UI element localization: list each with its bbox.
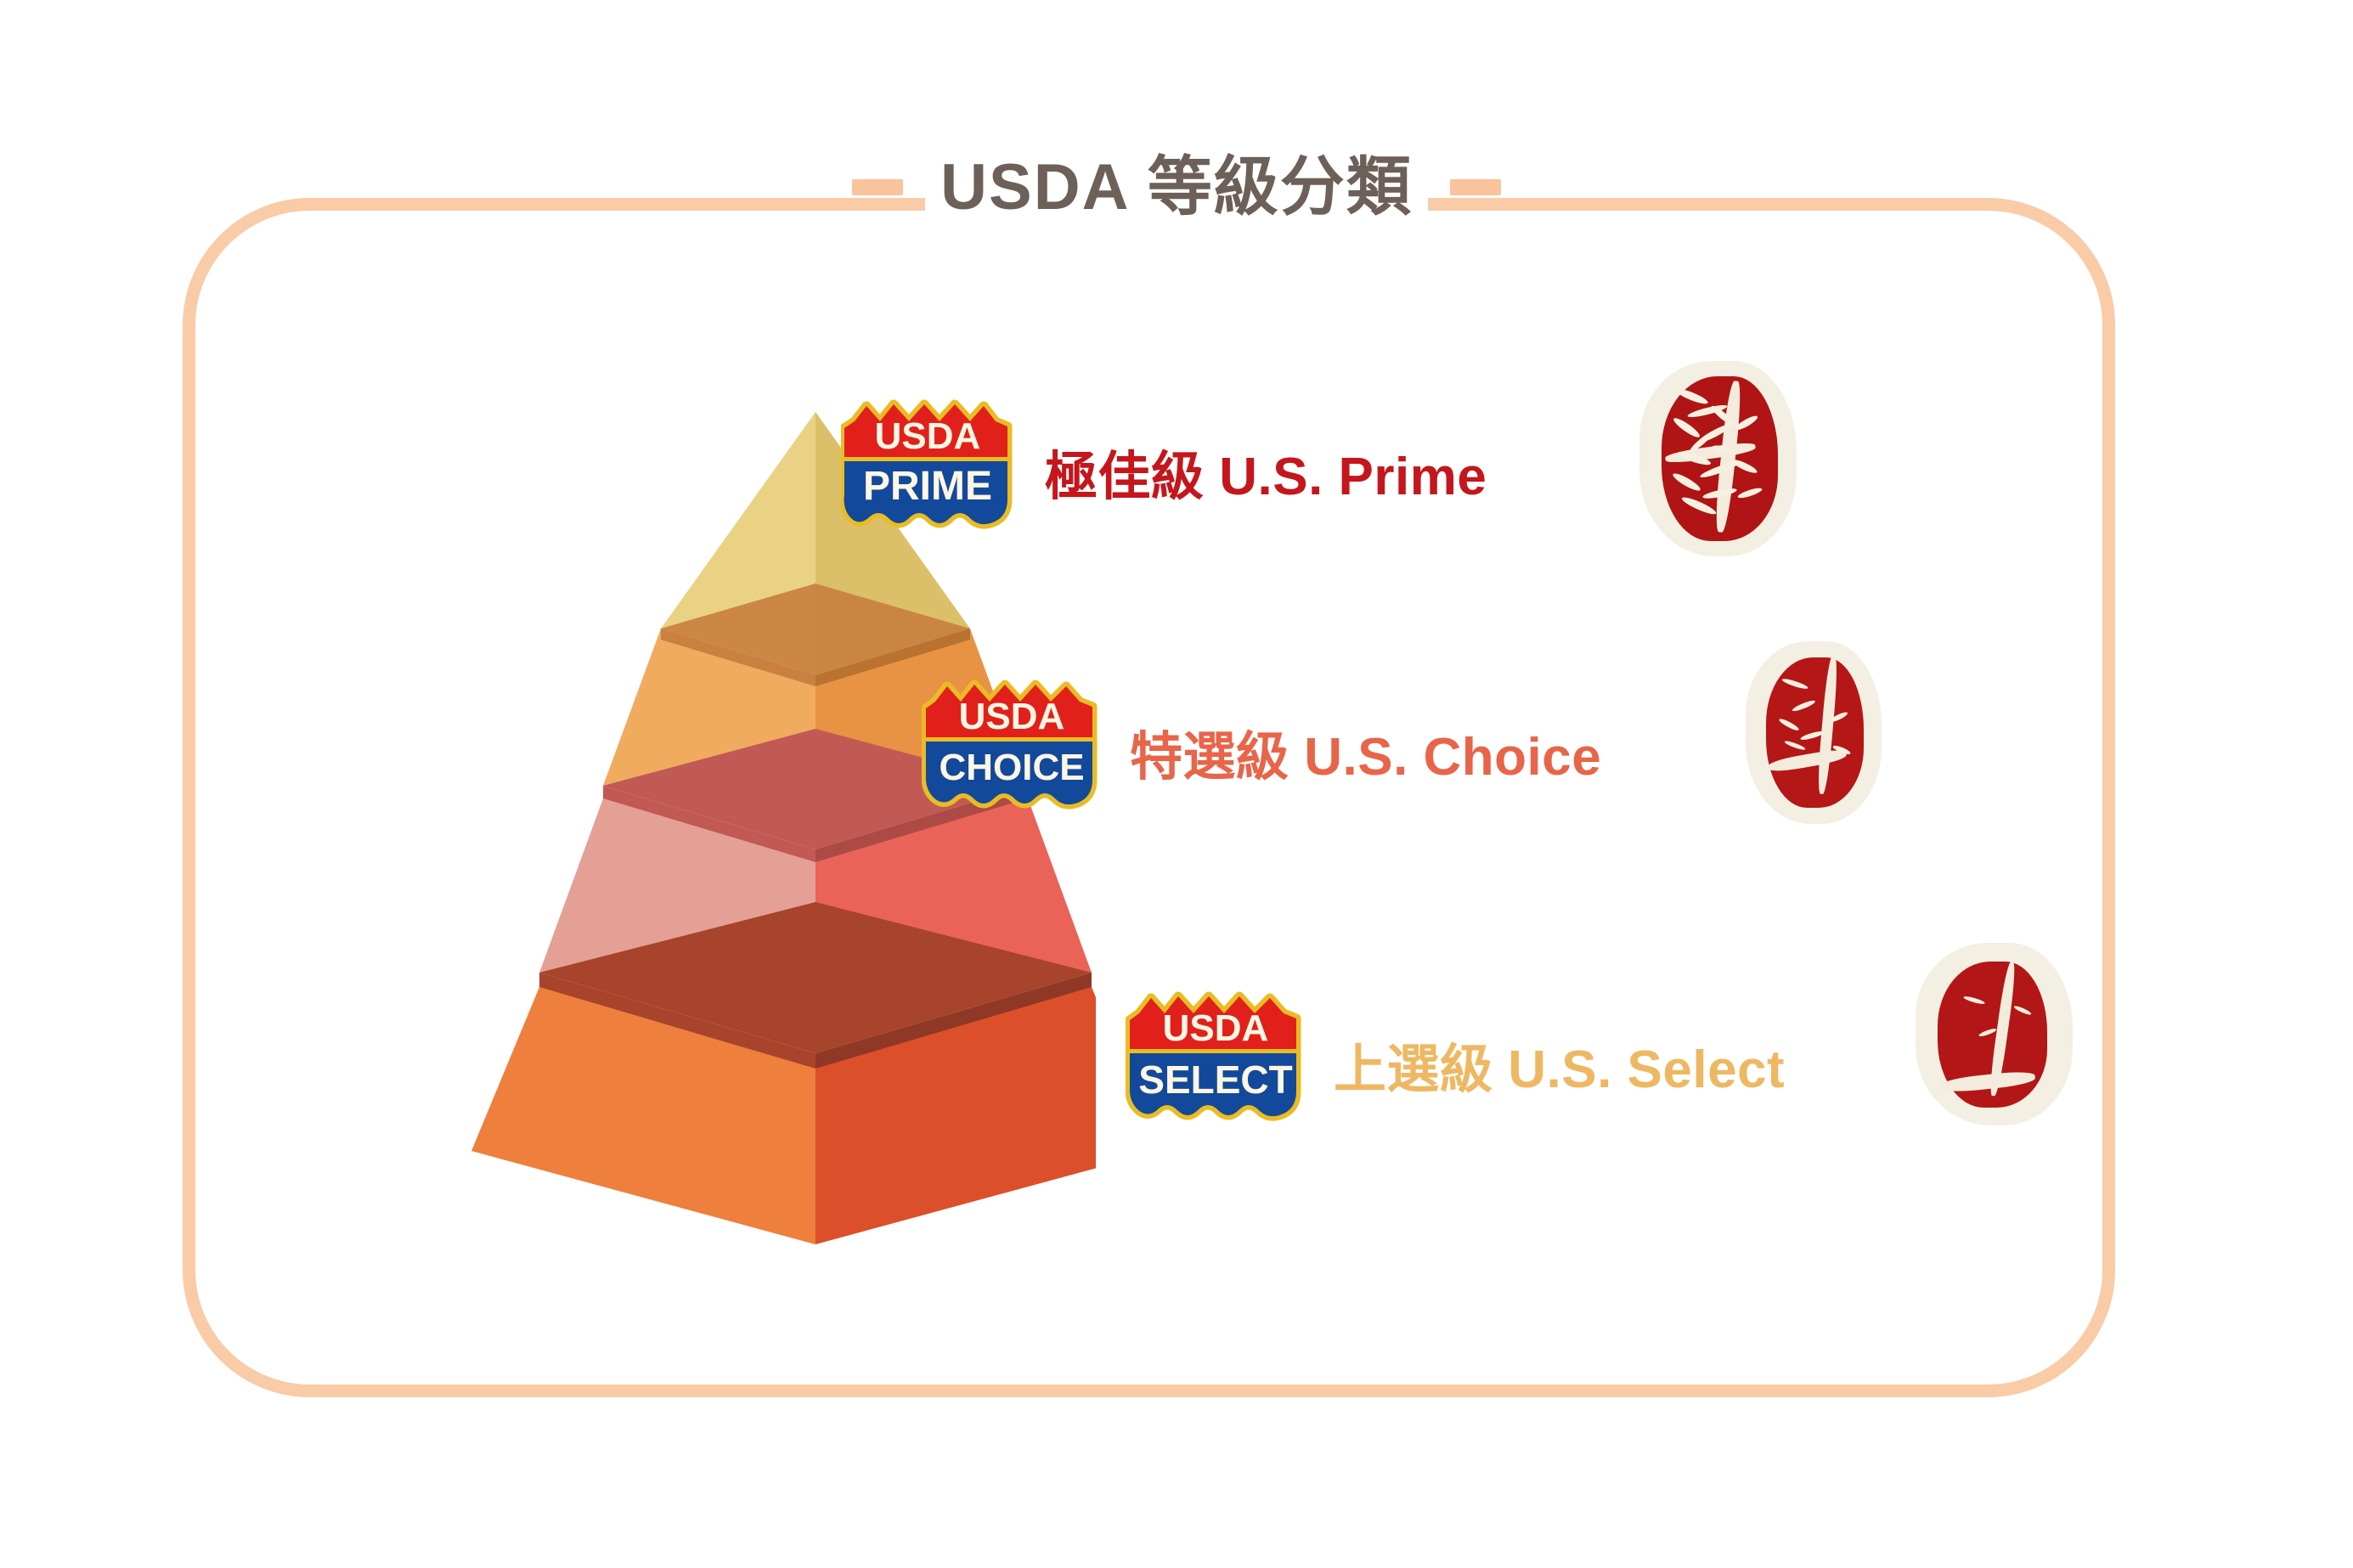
usda-choice-badge-top: USDA — [959, 696, 1065, 737]
choice-ribeye-steak — [1746, 641, 1882, 824]
usda-prime-badge[interactable]: USDA PRIME — [841, 399, 1019, 544]
grade-row-prime[interactable]: USDA PRIME 極佳級 U.S. Prime — [841, 399, 1487, 544]
grade-label-prime: 極佳級 U.S. Prime — [1045, 433, 1487, 510]
grade-label-choice: 特選級 U.S. Choice — [1130, 713, 1601, 790]
title-dash-left — [852, 179, 903, 195]
grade-row-select[interactable]: USDA SELECT 上選級 U.S. Select — [1126, 990, 1785, 1138]
grade-row-choice[interactable]: USDA CHOICE 特選級 U.S. Choice — [922, 680, 1601, 824]
select-ribeye-steak — [1916, 943, 2073, 1125]
usda-select-badge[interactable]: USDA SELECT — [1126, 990, 1308, 1138]
usda-prime-badge-bottom: PRIME — [863, 464, 992, 509]
usda-select-badge-top: USDA — [1163, 1007, 1269, 1049]
prime-ribeye-steak — [1639, 361, 1797, 556]
usda-select-badge-bottom: SELECT — [1138, 1058, 1292, 1102]
usda-prime-badge-top: USDA — [875, 415, 981, 457]
grade-label-select: 上選級 U.S. Select — [1334, 1026, 1785, 1103]
usda-choice-badge-bottom: CHOICE — [939, 747, 1084, 788]
title-dash-right — [1450, 179, 1501, 195]
usda-choice-badge[interactable]: USDA CHOICE — [922, 680, 1104, 824]
